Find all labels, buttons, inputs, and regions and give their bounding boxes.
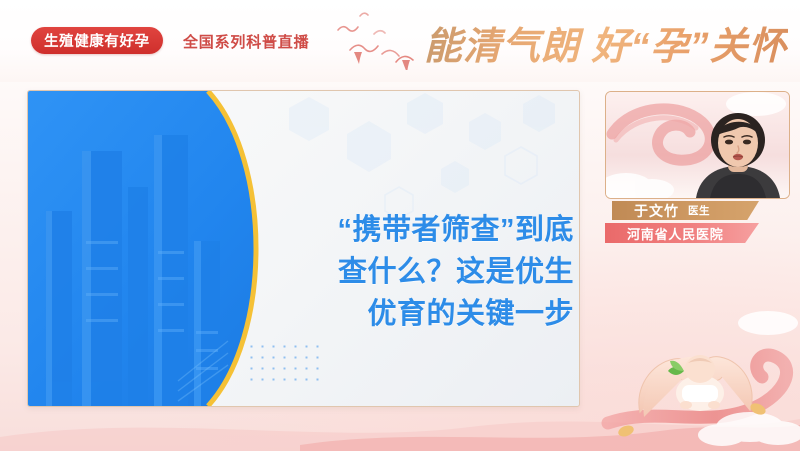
slide-title-line-1: “携带者筛查”到底 — [264, 209, 574, 251]
presenter-name-plate: 于文竹 医生 — [612, 201, 759, 220]
program-subtitle: 全国系列科普直播 — [183, 28, 309, 54]
slide-title-line-2: 查什么？这是优生 — [264, 251, 574, 293]
presenter-name: 于文竹 — [634, 201, 679, 221]
presenter-video-window[interactable] — [605, 91, 790, 199]
program-badge-label: 生殖健康有好孕 — [44, 30, 150, 51]
presenter-hospital: 河南省人民医院 — [627, 224, 724, 243]
program-badge: 生殖健康有好孕 — [31, 27, 163, 54]
presentation-slide: “携带者筛查”到底 查什么？这是优生 优育的关键一步 汇报人:于文竹 时间:20… — [27, 90, 580, 407]
dot-grid-decoration — [246, 341, 326, 385]
slide-title: “携带者筛查”到底 查什么？这是优生 优育的关键一步 — [264, 209, 574, 335]
presenter-role: 医生 — [688, 203, 710, 218]
slide-title-line-3: 优育的关键一步 — [264, 293, 574, 335]
hands-holding-baby-illustration — [600, 301, 800, 451]
header-banner: 生殖健康有好孕 全国系列科普直播 能清气朗 好“孕”关怀 — [0, 0, 800, 82]
presenter-hospital-plate: 河南省人民医院 — [605, 223, 759, 243]
campaign-headline: 能清气朗 好“孕”关怀 — [424, 18, 788, 66]
presenter-figure — [690, 112, 786, 198]
live-stream-frame: 生殖健康有好孕 全国系列科普直播 能清气朗 好“孕”关怀 — [0, 0, 800, 451]
